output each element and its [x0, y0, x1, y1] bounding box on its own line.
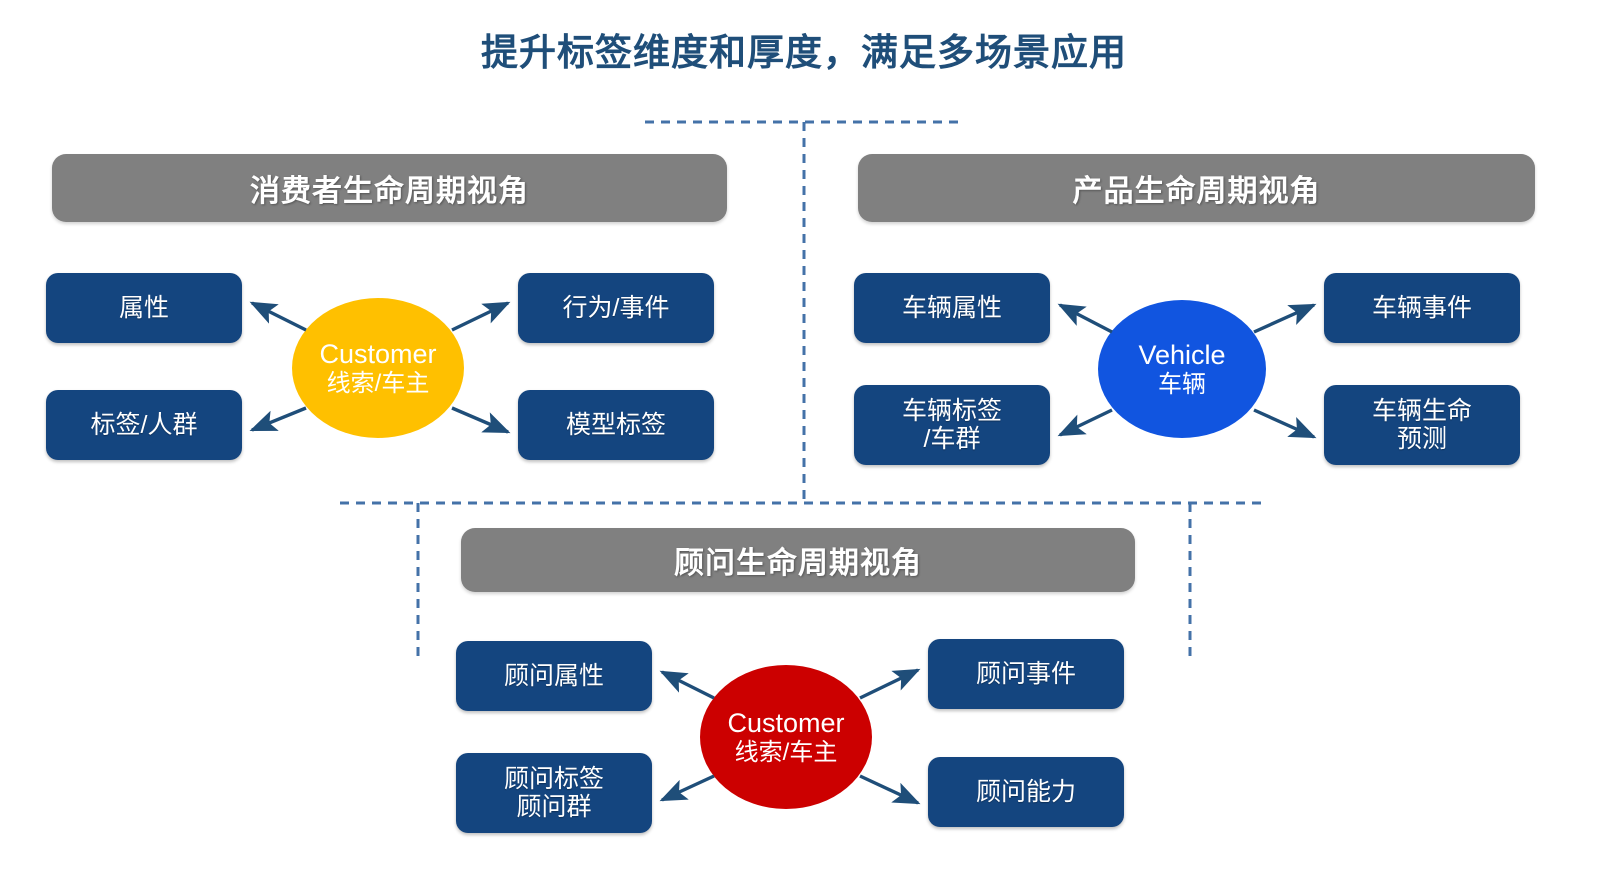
panel-header-consumer: 消费者生命周期视角 — [52, 154, 727, 222]
hub-customer-advisor[interactable]: Customer 线索/车主 — [700, 665, 872, 809]
hub-chinese-label: 车辆 — [1158, 371, 1206, 399]
panel-header-consumer-label: 消费者生命周期视角 — [250, 166, 529, 210]
node-label: 车辆标签 /车群 — [902, 397, 1002, 453]
node-advisor-tag-group[interactable]: 顾问标签 顾问群 — [456, 753, 652, 833]
slide-canvas: 提升标签维度和厚度，满足多场景应用 消费者生命周期视角 属性 标签/人群 行为/… — [0, 0, 1608, 876]
node-label: 顾问能力 — [976, 778, 1076, 806]
arrow-hub-to-attribute — [252, 303, 306, 330]
hub-vehicle[interactable]: Vehicle 车辆 — [1098, 300, 1266, 438]
node-label: 模型标签 — [566, 411, 666, 439]
node-vehicle-life-prediction[interactable]: 车辆生命 预测 — [1324, 385, 1520, 465]
node-consumer-tag-crowd[interactable]: 标签/人群 — [46, 390, 242, 460]
hub-customer-consumer[interactable]: Customer 线索/车主 — [292, 298, 464, 438]
panel-header-advisor: 顾问生命周期视角 — [461, 528, 1135, 592]
node-label: 车辆属性 — [902, 294, 1002, 322]
node-advisor-event[interactable]: 顾问事件 — [928, 639, 1124, 709]
node-label: 行为/事件 — [563, 294, 670, 322]
node-label: 车辆事件 — [1372, 294, 1472, 322]
node-consumer-behavior-event[interactable]: 行为/事件 — [518, 273, 714, 343]
node-label: 顾问标签 顾问群 — [504, 765, 604, 821]
panel-header-product: 产品生命周期视角 — [858, 154, 1535, 222]
arrow-vehicle-to-attribute — [1060, 305, 1112, 332]
panel-header-product-label: 产品生命周期视角 — [1073, 166, 1321, 210]
node-vehicle-event[interactable]: 车辆事件 — [1324, 273, 1520, 343]
arrow-advisor-hub-to-capability — [860, 776, 918, 803]
arrow-advisor-hub-to-attribute — [662, 672, 714, 698]
arrow-vehicle-to-life-prediction — [1254, 410, 1314, 437]
hub-english-label: Customer — [319, 339, 436, 370]
node-label: 属性 — [119, 294, 169, 322]
node-advisor-attribute[interactable]: 顾问属性 — [456, 641, 652, 711]
hub-chinese-label: 线索/车主 — [735, 739, 838, 767]
arrow-hub-to-model-tag — [452, 408, 508, 432]
node-vehicle-tag-fleet[interactable]: 车辆标签 /车群 — [854, 385, 1050, 465]
node-label: 顾问属性 — [504, 662, 604, 690]
node-label: 标签/人群 — [91, 411, 198, 439]
arrow-vehicle-to-tag-fleet — [1060, 410, 1112, 435]
page-title: 提升标签维度和厚度，满足多场景应用 — [0, 22, 1608, 76]
arrow-hub-to-behavior-event — [452, 303, 508, 330]
node-advisor-capability[interactable]: 顾问能力 — [928, 757, 1124, 827]
node-vehicle-attribute[interactable]: 车辆属性 — [854, 273, 1050, 343]
hub-english-label: Customer — [727, 708, 844, 739]
hub-english-label: Vehicle — [1138, 340, 1225, 371]
node-label: 顾问事件 — [976, 660, 1076, 688]
arrow-vehicle-to-event — [1254, 305, 1314, 332]
arrow-hub-to-tag-crowd — [252, 408, 306, 430]
hub-chinese-label: 线索/车主 — [327, 370, 430, 398]
arrow-advisor-hub-to-tag-group — [662, 776, 714, 800]
node-consumer-attribute[interactable]: 属性 — [46, 273, 242, 343]
panel-header-advisor-label: 顾问生命周期视角 — [674, 538, 922, 582]
node-consumer-model-tag[interactable]: 模型标签 — [518, 390, 714, 460]
node-label: 车辆生命 预测 — [1372, 397, 1472, 453]
arrow-advisor-hub-to-event — [860, 670, 918, 698]
